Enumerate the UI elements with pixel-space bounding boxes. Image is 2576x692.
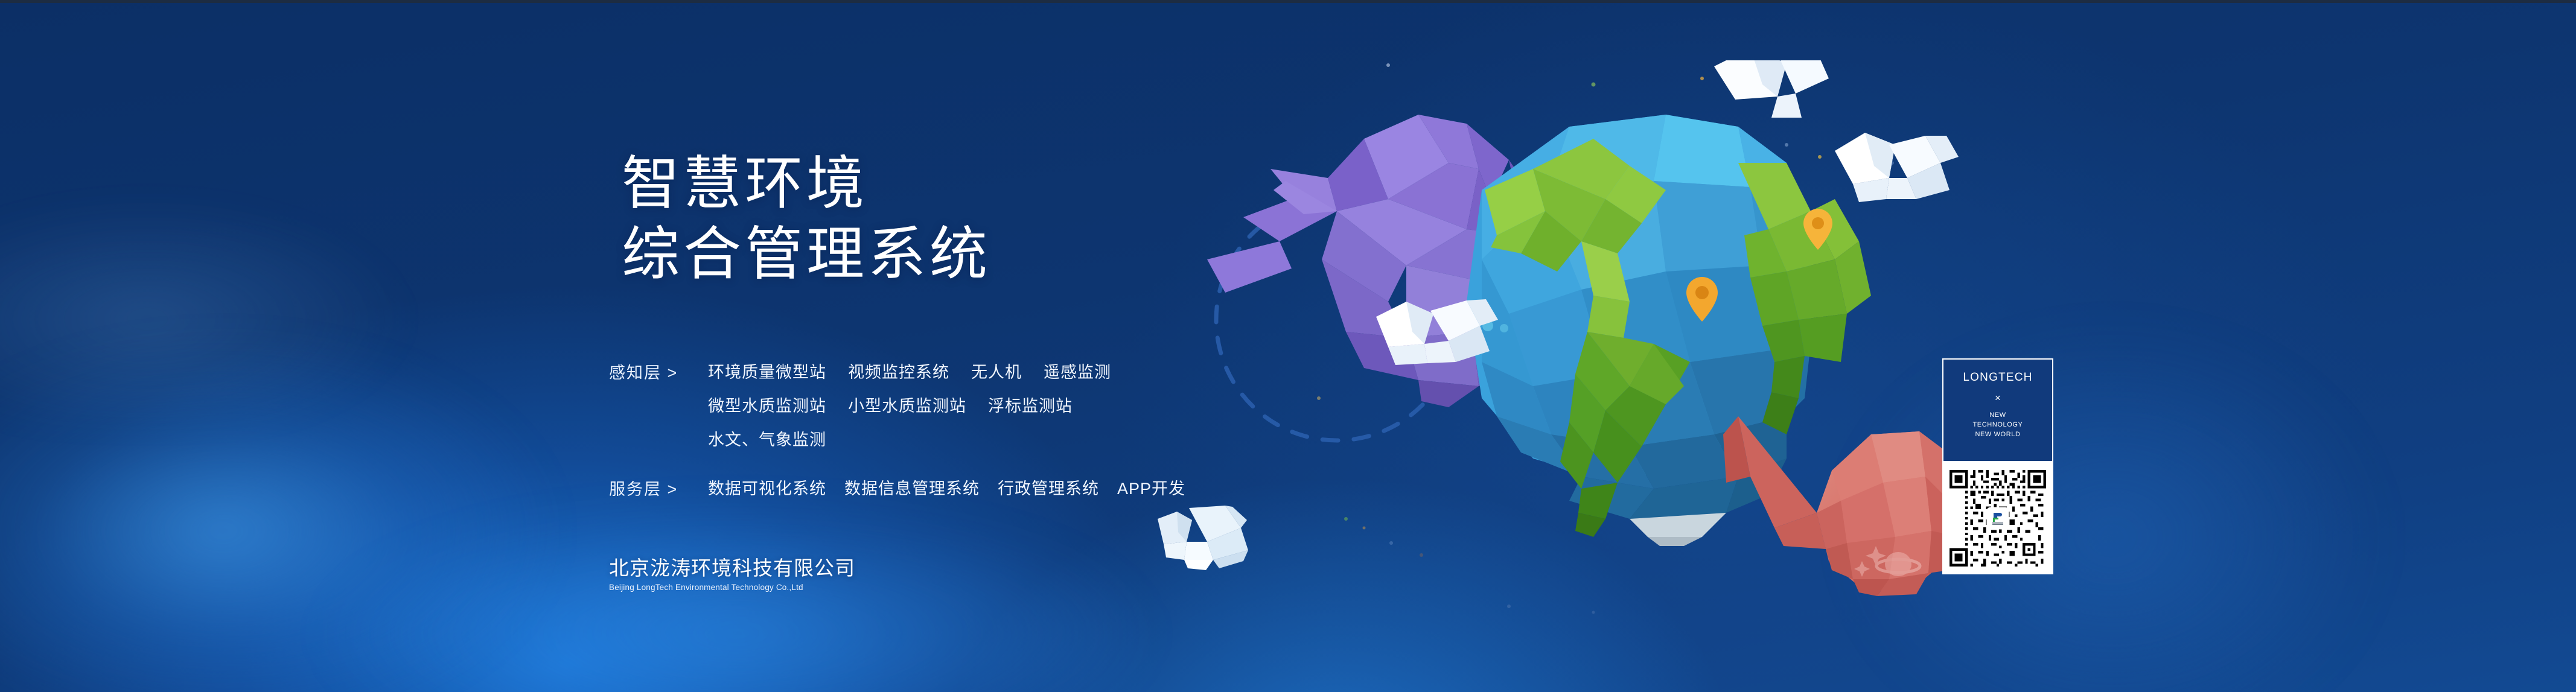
layer-items-service: 数据可视化系统 数据信息管理系统 行政管理系统 APP开发 (708, 475, 1185, 499)
layer-item-line: 水文、气象监测 (708, 427, 1111, 450)
qr-code-icon[interactable] (1950, 470, 2046, 567)
layer-item[interactable]: 数据可视化系统 (708, 475, 826, 499)
layer-item[interactable]: 遥感监测 (1044, 359, 1111, 383)
qr-code-panel[interactable] (1942, 462, 2053, 574)
layer-item[interactable]: 无人机 (971, 359, 1022, 383)
layer-item[interactable]: 数据信息管理系统 (844, 475, 980, 499)
cloud-cluster-right (1835, 133, 1959, 202)
layer-item-line: 微型水质监测站 小型水质监测站 浮标监测站 (708, 393, 1111, 416)
layer-item[interactable]: 微型水质监测站 (708, 393, 826, 416)
red-planet (1723, 416, 1965, 596)
layer-item[interactable]: 小型水质监测站 (848, 393, 966, 416)
cloud-cluster-globe-right (1714, 60, 1829, 118)
title-line-1: 智慧环境 (622, 148, 991, 219)
layer-row-perception: 感知层 > 环境质量微型站 视频监控系统 无人机 遥感监测 微型水质监测站 小型… (609, 359, 1185, 450)
layer-list: 感知层 > 环境质量微型站 视频监控系统 无人机 遥感监测 微型水质监测站 小型… (609, 359, 1185, 525)
layer-item[interactable]: 环境质量微型站 (708, 359, 826, 383)
company-name-en: Beijing LongTech Environmental Technolog… (609, 583, 855, 592)
qr-card-header: LONGTECH × NEWTECHNOLOGYNEW WORLD (1942, 358, 2053, 462)
banner-stage: 智慧环境 综合管理系统 感知层 > 环境质量微型站 视频监控系统 无人机 遥感监… (0, 0, 2576, 692)
brand-tagline: NEWTECHNOLOGYNEW WORLD (1972, 411, 2023, 440)
layer-item-line: 环境质量微型站 视频监控系统 无人机 遥感监测 (708, 359, 1111, 383)
layer-item[interactable]: 浮标监测站 (988, 393, 1073, 416)
banner-title: 智慧环境 综合管理系统 (622, 148, 991, 290)
qr-card[interactable]: LONGTECH × NEWTECHNOLOGYNEW WORLD (1942, 358, 2053, 574)
layer-items-perception: 环境质量微型站 视频监控系统 无人机 遥感监测 微型水质监测站 小型水质监测站 … (708, 359, 1111, 450)
layer-item[interactable]: 行政管理系统 (998, 475, 1099, 499)
top-edge-strip (0, 0, 2576, 3)
background-glow-bottom (314, 507, 1159, 692)
layer-item-line: 数据可视化系统 数据信息管理系统 行政管理系统 APP开发 (708, 475, 1185, 499)
layer-label-service[interactable]: 服务层 > (609, 475, 689, 500)
layer-row-service: 服务层 > 数据可视化系统 数据信息管理系统 行政管理系统 APP开发 (609, 475, 1185, 500)
company-name-cn: 北京泷涛环境科技有限公司 (609, 552, 855, 581)
title-line-2: 综合管理系统 (622, 219, 991, 290)
brand-name: LONGTECH (1963, 372, 2032, 383)
qr-center-logo (1988, 508, 2008, 529)
layer-item[interactable]: APP开发 (1117, 475, 1185, 499)
layer-item[interactable]: 水文、气象监测 (708, 427, 826, 450)
layer-label-perception[interactable]: 感知层 > (609, 359, 689, 383)
company-signature: 北京泷涛环境科技有限公司 Beijing LongTech Environmen… (609, 552, 855, 592)
layer-item[interactable]: 视频监控系统 (848, 359, 949, 383)
globe (1467, 115, 1871, 546)
cross-separator-icon: × (1995, 393, 2001, 403)
